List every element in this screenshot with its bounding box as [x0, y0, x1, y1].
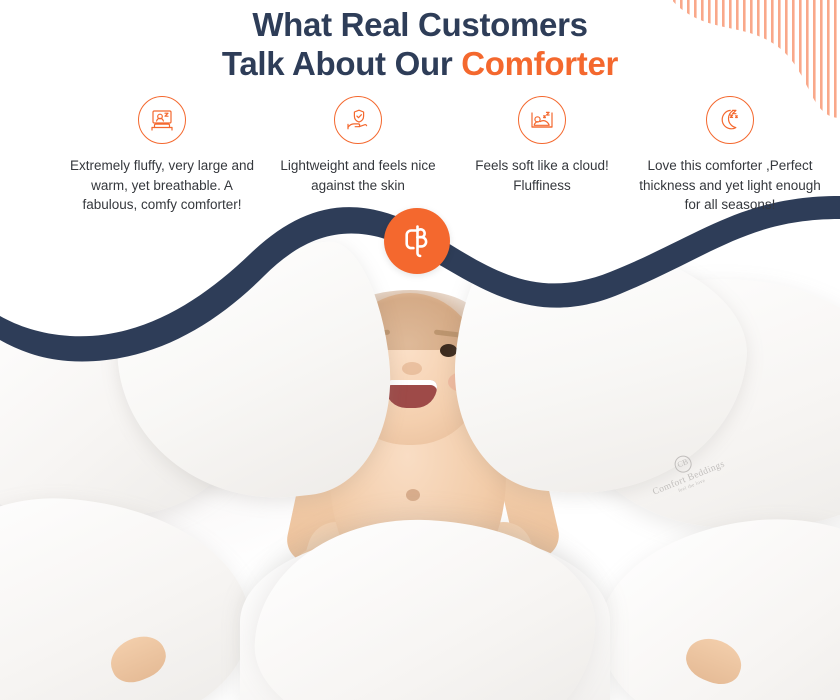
testimonial-item-1: Extremely fluffy, very large and warm, y…	[60, 96, 264, 215]
testimonial-item-3: Feels soft like a cloud! Fluffiness	[452, 96, 632, 215]
testimonial-item-2: Lightweight and feels nice against the s…	[264, 96, 452, 215]
baby-foot-left	[104, 628, 172, 689]
testimonial-text: Extremely fluffy, very large and warm, y…	[66, 156, 258, 215]
page-title: What Real Customers Talk About Our Comfo…	[0, 6, 840, 84]
promo-banner: CB Comfort Beddings feel the love	[0, 0, 840, 700]
title-line-1: What Real Customers	[0, 6, 840, 45]
cb-monogram-logo	[399, 221, 435, 261]
testimonial-text: Love this comforter ,Perfect thickness a…	[638, 156, 822, 215]
title-line-2-prefix: Talk About Our	[222, 45, 461, 82]
baby-nose	[402, 362, 422, 375]
sleeping-person-cloud-icon	[518, 96, 566, 144]
title-line-2: Talk About Our Comforter	[0, 45, 840, 84]
person-sleeping-in-bed-icon	[138, 96, 186, 144]
brand-badge[interactable]	[384, 208, 450, 274]
baby-eye-right	[440, 344, 457, 357]
testimonial-item-4: Love this comforter ,Perfect thickness a…	[632, 96, 828, 215]
testimonial-text: Feels soft like a cloud! Fluffiness	[458, 156, 626, 195]
title-accent-word: Comforter	[461, 45, 618, 82]
testimonial-text: Lightweight and feels nice against the s…	[270, 156, 446, 195]
hand-holding-shield-check-icon	[334, 96, 382, 144]
baby-navel	[406, 489, 420, 501]
crescent-moon-zzz-icon	[706, 96, 754, 144]
baby-foot-right	[680, 631, 748, 691]
testimonial-list: Extremely fluffy, very large and warm, y…	[60, 96, 780, 215]
